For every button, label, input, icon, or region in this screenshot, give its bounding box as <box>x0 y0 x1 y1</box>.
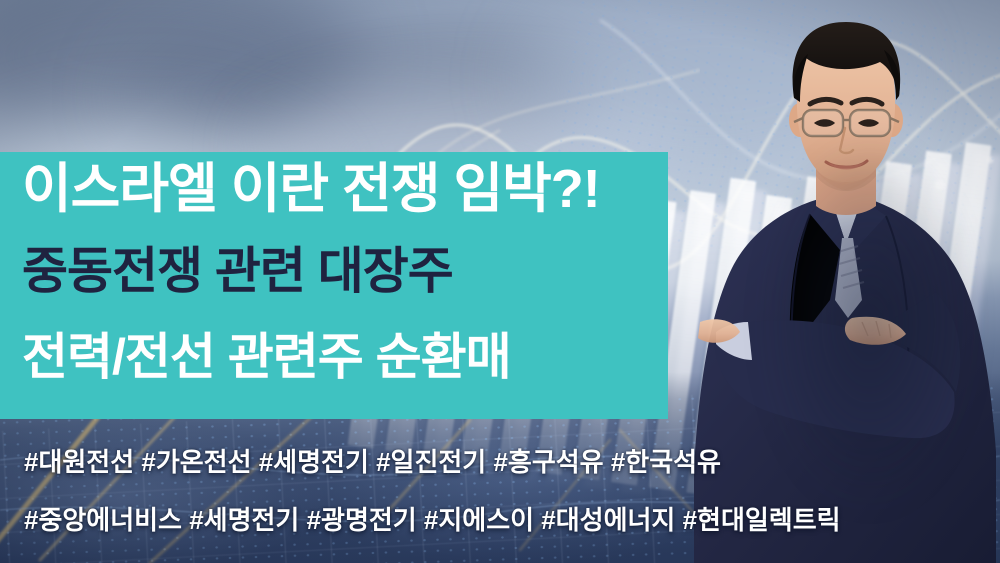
hashtag-line-2: #중앙에너비스 #세명전기 #광명전기 #지에스이 #대성에너지 #현대일렉트릭 <box>24 505 841 535</box>
presenter-shadow <box>710 30 1000 563</box>
hashtag-line-1: #대원전선 #가온전선 #세명전기 #일진전기 #흥구석유 #한국석유 <box>24 447 721 477</box>
headline-line-3: 전력/전선 관련주 순환매 <box>22 330 672 384</box>
headline-line-2: 중동전쟁 관련 대장주 <box>22 244 672 298</box>
headline-line-1: 이스라엘 이란 전쟁 임박?! <box>22 160 672 218</box>
thumbnail-canvas: 이스라엘 이란 전쟁 임박?! 중동전쟁 관련 대장주 전력/전선 관련주 순환… <box>0 0 1000 563</box>
presenter-photo <box>690 0 1000 563</box>
